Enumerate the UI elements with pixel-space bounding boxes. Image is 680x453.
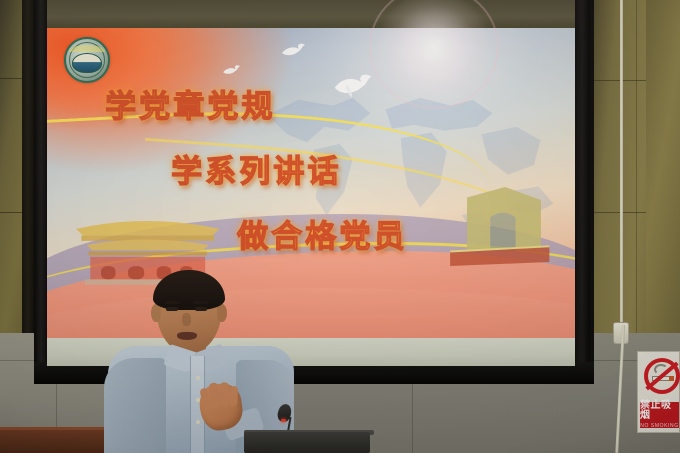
speaker-eyebrow-right xyxy=(193,301,208,304)
screen-border-left xyxy=(34,0,48,382)
desk-surface xyxy=(0,430,118,453)
screen-unlit-top xyxy=(47,0,575,28)
university-emblem-icon xyxy=(64,37,110,83)
wall-shadow-gap-left xyxy=(22,0,34,372)
wall-cable xyxy=(620,0,623,330)
yanan-monument-graphic xyxy=(448,183,554,288)
dove-icon xyxy=(332,71,374,99)
dove-icon xyxy=(221,62,243,78)
speaker-nose xyxy=(182,313,191,326)
speaker-hair xyxy=(153,270,225,310)
far-right-wall-panel xyxy=(646,0,680,356)
wall-joint-line xyxy=(412,378,413,453)
screen-border-right xyxy=(574,0,590,382)
no-smoking-label-en: NO SMOKING xyxy=(640,423,679,429)
speaker-mouth xyxy=(177,332,197,340)
microphone-led-indicator xyxy=(281,419,286,422)
speaker-eyebrow-left xyxy=(165,301,180,304)
speaker-shoulder-left xyxy=(104,358,166,453)
shirt-button xyxy=(196,420,200,424)
podium xyxy=(244,432,370,453)
dove-icon xyxy=(279,40,309,60)
speaker-person xyxy=(104,272,294,453)
no-smoking-sign: 禁止吸烟 NO SMOKING xyxy=(637,351,680,433)
no-smoking-label-cn: 禁止吸烟 xyxy=(640,401,679,421)
speaker-eye-left xyxy=(166,307,178,311)
lecture-hall-scene: 学党章党规 学系列讲话 做合格党员 xyxy=(0,0,680,453)
speaker-eye-right xyxy=(195,307,207,311)
shirt-button xyxy=(196,376,200,380)
no-smoking-label-band: 禁止吸烟 NO SMOKING xyxy=(640,402,679,428)
speaker-ear-right xyxy=(217,304,227,322)
